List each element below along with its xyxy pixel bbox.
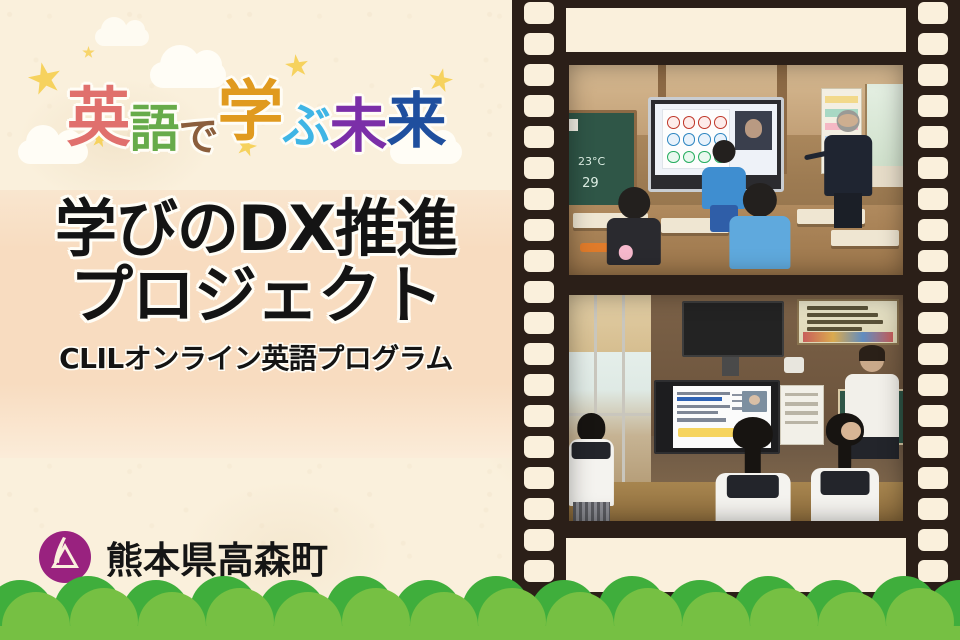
- headline-char-6: 来: [387, 92, 446, 152]
- ceiling-monitor: [682, 301, 784, 357]
- photo-elementary-clil-lesson: 23°C 29: [566, 62, 906, 278]
- sprocket-hole: [918, 157, 948, 179]
- chalkboard-number-label: 29: [582, 176, 599, 191]
- page-title-line-2: プロジェクト: [0, 263, 512, 329]
- sprocket-hole: [918, 405, 948, 427]
- school-motto-banner: [797, 299, 899, 345]
- green-hills-decoration: [0, 564, 960, 640]
- sprocket-hole: [918, 95, 948, 117]
- page-title-line-1: 学びのDX推進: [0, 196, 512, 261]
- sprocket-hole: [524, 436, 554, 458]
- sprocket-hole: [918, 250, 948, 272]
- film-strip: 23°C 29: [512, 0, 960, 600]
- photo-1-scene: 23°C 29: [566, 62, 906, 278]
- sprocket-hole: [524, 64, 554, 86]
- sprocket-hole: [524, 250, 554, 272]
- sprocket-hole: [524, 95, 554, 117]
- headline-char-3: 学: [217, 78, 282, 144]
- sprocket-hole: [918, 126, 948, 148]
- sprocket-hole: [918, 2, 948, 24]
- sprocket-hole: [524, 126, 554, 148]
- headline-char-0: 英: [66, 87, 129, 151]
- poster-canvas: 英語で学ぶ未来 学びのDX推進 プロジェクト CLILオンライン英語プログラム …: [0, 0, 960, 640]
- sprocket-hole: [918, 436, 948, 458]
- sprocket-hole: [918, 219, 948, 241]
- sprocket-hole: [524, 2, 554, 24]
- sprocket-hole: [918, 64, 948, 86]
- photo-junior-high-clil-lesson: [566, 292, 906, 524]
- sprocket-hole: [918, 498, 948, 520]
- sprocket-holes-right: [912, 0, 954, 600]
- chalkboard-temp-label: 23°C: [578, 155, 605, 168]
- headline-char-5: 未: [330, 97, 387, 155]
- page-subtitle: CLILオンライン英語プログラム: [0, 337, 512, 377]
- main-title-block: 学びのDX推進 プロジェクト CLILオンライン英語プログラム: [0, 196, 512, 377]
- headline-char-1: 語: [129, 104, 178, 154]
- sprocket-hole: [524, 343, 554, 365]
- headline-char-4: ぶ: [282, 102, 329, 150]
- sprocket-hole: [524, 188, 554, 210]
- sprocket-hole: [918, 529, 948, 551]
- student-figure-center: [716, 417, 791, 524]
- sprocket-hole: [918, 188, 948, 210]
- sprocket-hole: [524, 467, 554, 489]
- star-decor-4: [283, 52, 310, 79]
- sprocket-hole: [524, 281, 554, 303]
- student-figure-right: [811, 413, 879, 524]
- left-content-panel: 英語で学ぶ未来 学びのDX推進 プロジェクト CLILオンライン英語プログラム …: [0, 0, 512, 640]
- film-frame-blank-top: [566, 8, 906, 52]
- sprocket-hole: [918, 312, 948, 334]
- headline-char-2: で: [178, 117, 217, 157]
- sprocket-hole: [918, 467, 948, 489]
- seated-pupil-figure-a: [607, 187, 661, 265]
- sprocket-hole: [524, 529, 554, 551]
- photo-2-scene: [566, 292, 906, 524]
- sprocket-hole: [524, 374, 554, 396]
- star-decor-6: [82, 46, 95, 59]
- sprocket-hole: [918, 33, 948, 55]
- sprocket-holes-left: [518, 0, 560, 600]
- sprocket-hole: [524, 498, 554, 520]
- cloud-decor-4: [95, 28, 149, 46]
- sprocket-hole: [524, 157, 554, 179]
- sprocket-hole: [524, 312, 554, 334]
- sprocket-hole: [918, 281, 948, 303]
- sprocket-hole: [524, 405, 554, 427]
- teacher-figure: [824, 110, 872, 227]
- student-figure-left: [569, 413, 613, 524]
- seated-pupil-figure-b: [729, 183, 790, 269]
- sprocket-hole: [918, 343, 948, 365]
- sprocket-hole: [918, 374, 948, 396]
- headline-eigo-de-manabu-mirai: 英語で学ぶ未来: [0, 84, 512, 151]
- sprocket-hole: [524, 33, 554, 55]
- sprocket-hole: [524, 219, 554, 241]
